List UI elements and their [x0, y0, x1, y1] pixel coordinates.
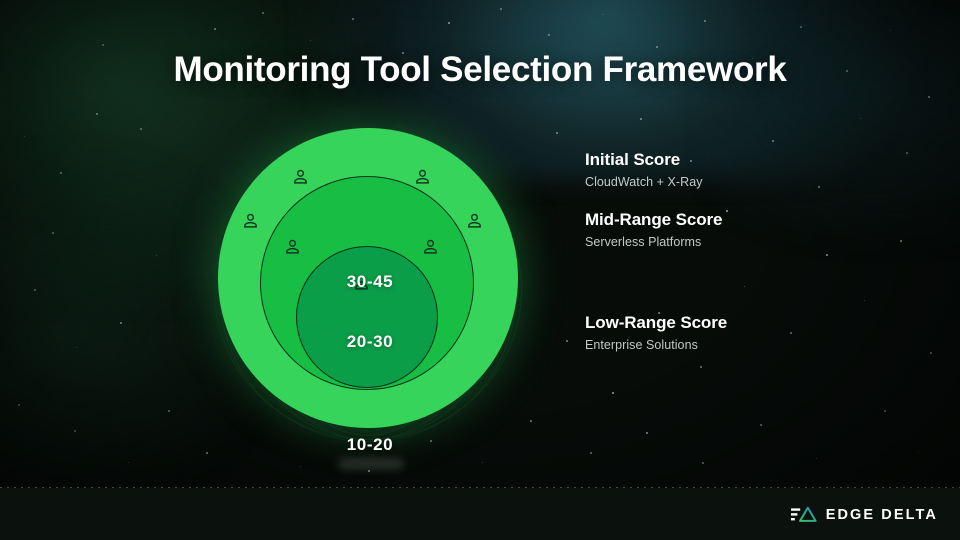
legend-item-low-range-score[interactable]: Low-Range Score Enterprise Solutions: [585, 313, 727, 352]
star-speck: [702, 462, 704, 464]
inner-blur-artifact: [338, 458, 404, 470]
star-speck: [906, 152, 908, 154]
legend-subtitle: Serverless Platforms: [585, 235, 722, 249]
star-speck: [900, 240, 902, 242]
person-icon: [466, 212, 483, 229]
star-speck: [800, 26, 802, 28]
star-speck: [612, 392, 614, 394]
star-speck: [556, 132, 558, 134]
star-speck: [60, 172, 62, 174]
star-speck: [818, 186, 820, 188]
footer-divider: [0, 487, 960, 488]
star-speck: [52, 232, 54, 234]
star-speck: [18, 404, 20, 406]
star-speck: [704, 20, 706, 22]
teal-glow-right: [720, 0, 960, 240]
slide-canvas: Monitoring Tool Selection Framework: [0, 0, 960, 540]
star-speck: [120, 322, 122, 324]
star-speck: [156, 255, 157, 256]
legend-title: Low-Range Score: [585, 313, 727, 333]
person-icon: [422, 238, 439, 255]
ring-label-inner: 10-20: [210, 435, 530, 455]
star-speck: [448, 22, 450, 24]
page-title: Monitoring Tool Selection Framework: [0, 50, 960, 90]
star-speck: [168, 410, 170, 412]
legend-title: Mid-Range Score: [585, 210, 722, 230]
star-speck: [206, 452, 208, 454]
star-speck: [128, 462, 129, 463]
star-speck: [646, 432, 648, 434]
legend-item-mid-range-score[interactable]: Mid-Range Score Serverless Platforms: [585, 210, 722, 249]
person-icon: [242, 212, 259, 229]
star-speck: [34, 289, 36, 291]
star-speck: [640, 118, 642, 120]
legend-subtitle: CloudWatch + X-Ray: [585, 175, 703, 189]
star-speck: [76, 347, 77, 348]
star-speck: [368, 470, 370, 472]
star-speck: [826, 254, 828, 256]
legend-item-initial-score[interactable]: Initial Score CloudWatch + X-Ray: [585, 150, 703, 189]
star-speck: [744, 286, 745, 287]
star-speck: [74, 430, 76, 432]
star-speck: [310, 40, 311, 41]
person-icon: [414, 168, 431, 185]
ring-label-mid: 20-30: [210, 332, 530, 352]
star-speck: [96, 113, 98, 115]
star-speck: [884, 410, 886, 412]
star-speck: [214, 28, 216, 30]
star-speck: [930, 352, 932, 354]
star-speck: [864, 300, 865, 301]
star-speck: [262, 12, 264, 14]
star-speck: [530, 420, 532, 422]
star-speck: [726, 210, 728, 212]
star-speck: [816, 458, 817, 459]
ring-label-outer: 30-45: [210, 272, 530, 292]
legend-subtitle: Enterprise Solutions: [585, 338, 727, 352]
edge-delta-logo-icon: [791, 505, 817, 524]
star-speck: [890, 30, 891, 31]
star-speck: [352, 18, 354, 20]
star-speck: [500, 8, 502, 10]
star-speck: [700, 366, 702, 368]
ring-inner[interactable]: [296, 246, 438, 388]
star-speck: [760, 424, 762, 426]
star-speck: [548, 34, 550, 36]
star-speck: [602, 14, 603, 15]
brand-name: EDGE DELTA: [826, 507, 938, 523]
legend-title: Initial Score: [585, 150, 703, 170]
person-icon: [292, 168, 309, 185]
star-speck: [566, 340, 568, 342]
star-speck: [656, 46, 658, 48]
concentric-diagram: 30-45 20-30 10-20: [210, 120, 530, 450]
star-speck: [928, 96, 930, 98]
star-speck: [482, 462, 483, 463]
star-speck: [300, 466, 301, 467]
star-speck: [140, 128, 142, 130]
star-speck: [790, 332, 792, 334]
star-speck: [918, 452, 919, 453]
brand-logo[interactable]: EDGE DELTA: [791, 505, 938, 524]
star-speck: [24, 136, 25, 137]
star-speck: [860, 118, 861, 119]
star-speck: [772, 140, 774, 142]
star-speck: [102, 44, 104, 46]
person-icon: [284, 238, 301, 255]
star-speck: [590, 452, 592, 454]
